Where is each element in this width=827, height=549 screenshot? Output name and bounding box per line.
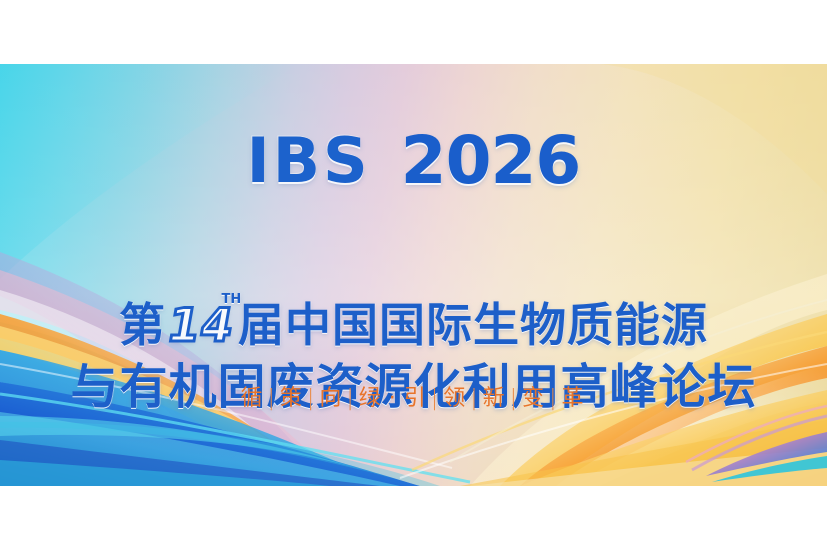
slogan-middot: · bbox=[385, 386, 403, 411]
edition-ordinal: 14TH bbox=[163, 298, 239, 352]
slogan: 循|策|向|绿·引|领|新|变|革 bbox=[0, 380, 827, 412]
slogan-word-9: 革 bbox=[561, 386, 588, 411]
slogan-separator-3: | bbox=[345, 386, 357, 411]
slogan-separator-4: | bbox=[430, 386, 442, 411]
slogan-separator-7: | bbox=[548, 386, 560, 411]
slogan-separator-5: | bbox=[469, 386, 481, 411]
slogan-separator-6: | bbox=[509, 386, 521, 411]
slogan-word-5: 引 bbox=[403, 386, 430, 411]
edition-ordinal-suffix: TH bbox=[222, 292, 242, 307]
event-year: 2026 bbox=[401, 122, 581, 199]
slogan-separator-1: | bbox=[266, 386, 278, 411]
slogan-word-4: 绿 bbox=[358, 386, 385, 411]
event-acronym: IBS bbox=[247, 124, 371, 197]
edition-prefix: 第 bbox=[119, 298, 166, 352]
slogan-word-7: 新 bbox=[482, 386, 509, 411]
title-line-1-rest: 届中国国际生物质能源 bbox=[238, 298, 708, 352]
slogan-word-1: 循 bbox=[239, 386, 266, 411]
conference-banner-image: IBS2026 第14TH届中国国际生物质能源 与有机固废资源化利用高峰论坛 循… bbox=[0, 64, 827, 486]
slogan-word-2: 策 bbox=[279, 386, 306, 411]
slogan-separator-2: | bbox=[306, 386, 318, 411]
slogan-word-8: 变 bbox=[521, 386, 548, 411]
slogan-word-6: 领 bbox=[442, 386, 469, 411]
slogan-word-3: 向 bbox=[318, 386, 345, 411]
page-root: IBS2026 第14TH届中国国际生物质能源 与有机固废资源化利用高峰论坛 循… bbox=[0, 0, 827, 549]
event-lockup: IBS2026 bbox=[0, 122, 827, 199]
title-line-1: 第14TH届中国国际生物质能源 bbox=[0, 289, 827, 355]
